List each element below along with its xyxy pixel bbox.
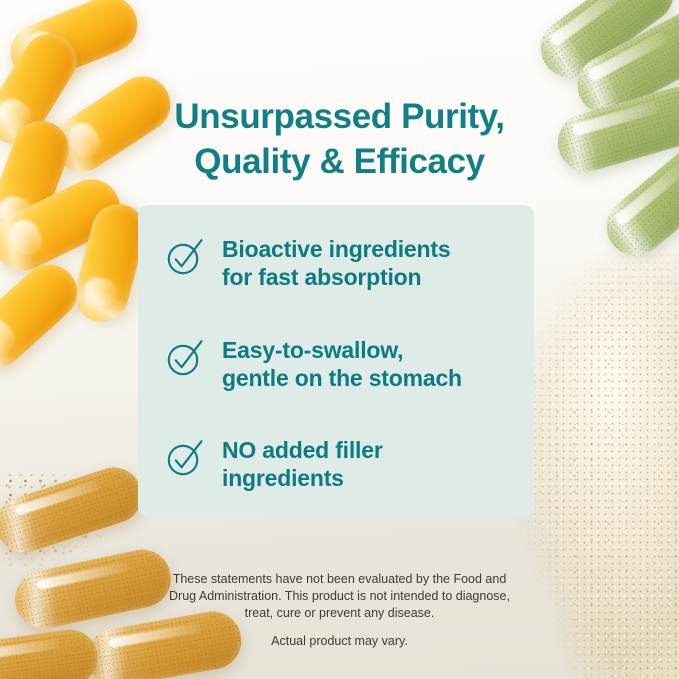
headline-line-1: Unsurpassed Purity, — [108, 95, 571, 139]
feature-line: for fast absorption — [222, 264, 450, 292]
disclaimer-line: These statements have not been evaluated… — [150, 571, 529, 588]
feature-line: ingredients — [222, 465, 383, 493]
headline-line-2: Quality & Efficacy — [108, 140, 571, 184]
check-circle-icon — [164, 437, 206, 479]
feature-text: Bioactive ingredients for fast absorptio… — [222, 235, 450, 292]
feature-line: gentle on the stomach — [222, 365, 462, 393]
feature-line: Bioactive ingredients — [222, 236, 450, 264]
page-title: Unsurpassed Purity, Quality & Efficacy — [0, 95, 679, 184]
check-circle-icon — [164, 337, 206, 379]
feature-item: NO added filler ingredients — [164, 436, 508, 493]
feature-item: Bioactive ingredients for fast absorptio… — [164, 235, 508, 292]
product-variation-note: Actual product may vary. — [0, 633, 679, 650]
feature-text: NO added filler ingredients — [222, 436, 383, 493]
product-feature-panel: Unsurpassed Purity, Quality & Efficacy B… — [0, 0, 679, 679]
fda-disclaimer: These statements have not been evaluated… — [0, 571, 679, 623]
feature-line: NO added filler — [222, 437, 383, 465]
feature-item: Easy-to-swallow, gentle on the stomach — [164, 336, 508, 393]
disclaimer-line: Drug Administration. This product is not… — [150, 588, 529, 605]
feature-list-card: Bioactive ingredients for fast absorptio… — [138, 205, 534, 517]
feature-line: Easy-to-swallow, — [222, 337, 462, 365]
check-circle-icon — [164, 236, 206, 278]
disclaimer-line: treat, cure or prevent any disease. — [150, 605, 529, 622]
feature-text: Easy-to-swallow, gentle on the stomach — [222, 336, 462, 393]
panel-content: Unsurpassed Purity, Quality & Efficacy B… — [0, 0, 679, 679]
